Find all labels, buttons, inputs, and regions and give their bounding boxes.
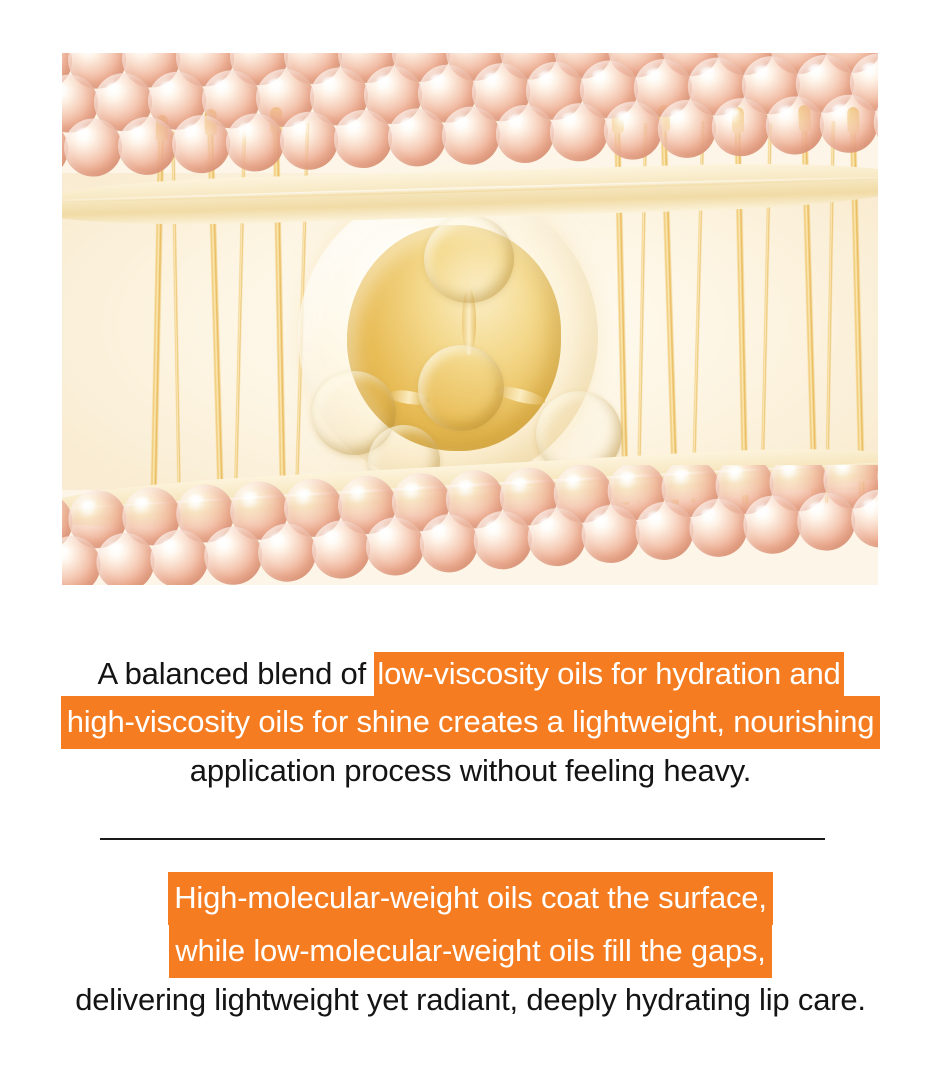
paragraph-two: High-molecular-weight oils coat the surf… <box>0 872 941 1022</box>
skin-cell-layer-bottom <box>62 465 878 585</box>
skin-cell <box>387 107 447 167</box>
highlighted-phrase: low-viscosity oils for hydration and <box>374 652 843 696</box>
text-line-2: high-viscosity oils for shine creates a … <box>61 696 881 749</box>
skin-cell <box>472 510 533 571</box>
skin-cell <box>95 531 156 585</box>
skin-cell <box>580 503 641 564</box>
oil-droplet <box>424 215 514 303</box>
skin-cell <box>873 92 878 152</box>
text-line-3: application process without feeling heav… <box>0 749 941 793</box>
hero-illustration <box>62 53 878 585</box>
section-divider <box>100 838 825 840</box>
paragraph-one-line: application process without feeling heav… <box>0 749 941 793</box>
skin-cell <box>279 111 339 171</box>
paragraph-two-line: High-molecular-weight oils coat the surf… <box>0 872 941 925</box>
skin-cell <box>257 522 318 583</box>
skin-cell <box>441 106 501 166</box>
skin-cell <box>657 99 717 159</box>
skin-cell <box>634 500 695 561</box>
paragraph-one-line: high-viscosity oils for shine creates a … <box>0 696 941 749</box>
text-line-1: A balanced blend of low-viscosity oils f… <box>0 652 941 696</box>
skin-cell <box>364 516 425 577</box>
skin-cell <box>796 491 857 552</box>
skin-cell <box>418 513 479 574</box>
skin-cell <box>171 114 231 174</box>
skin-cell <box>117 116 177 176</box>
skin-cell <box>333 109 393 169</box>
skin-cell <box>765 96 825 156</box>
plain-phrase: delivering lightweight yet radiant, deep… <box>75 982 866 1017</box>
paragraph-one-line: A balanced blend of low-viscosity oils f… <box>0 652 941 696</box>
plain-phrase: A balanced blend of <box>97 656 374 691</box>
skin-cell <box>603 101 663 161</box>
skin-cell <box>549 102 609 162</box>
skin-cell <box>688 497 749 558</box>
paragraph-two-line: while low-molecular-weight oils fill the… <box>0 925 941 978</box>
skin-cell <box>526 507 587 568</box>
skin-cell <box>225 113 285 173</box>
skin-cell <box>819 94 878 154</box>
skin-cell <box>149 528 210 585</box>
plain-phrase: application process without feeling heav… <box>190 753 751 788</box>
skin-cell <box>711 97 771 157</box>
text-line-5: while low-molecular-weight oils fill the… <box>169 925 771 978</box>
hero-illustration-canvas <box>62 53 878 585</box>
skin-cell-layer-top <box>62 53 878 197</box>
skin-cell <box>310 519 371 580</box>
oil-droplet <box>418 345 504 431</box>
skin-cell <box>850 488 878 549</box>
skin-cell <box>742 494 803 555</box>
text-line-6: delivering lightweight yet radiant, deep… <box>0 978 941 1022</box>
paragraph-one: A balanced blend of low-viscosity oils f… <box>0 652 941 793</box>
paragraph-two-line: delivering lightweight yet radiant, deep… <box>0 978 941 1022</box>
skin-cell <box>203 525 264 585</box>
skin-cell <box>495 104 555 164</box>
text-line-4: High-molecular-weight oils coat the surf… <box>168 872 773 925</box>
skin-cell <box>63 118 123 178</box>
